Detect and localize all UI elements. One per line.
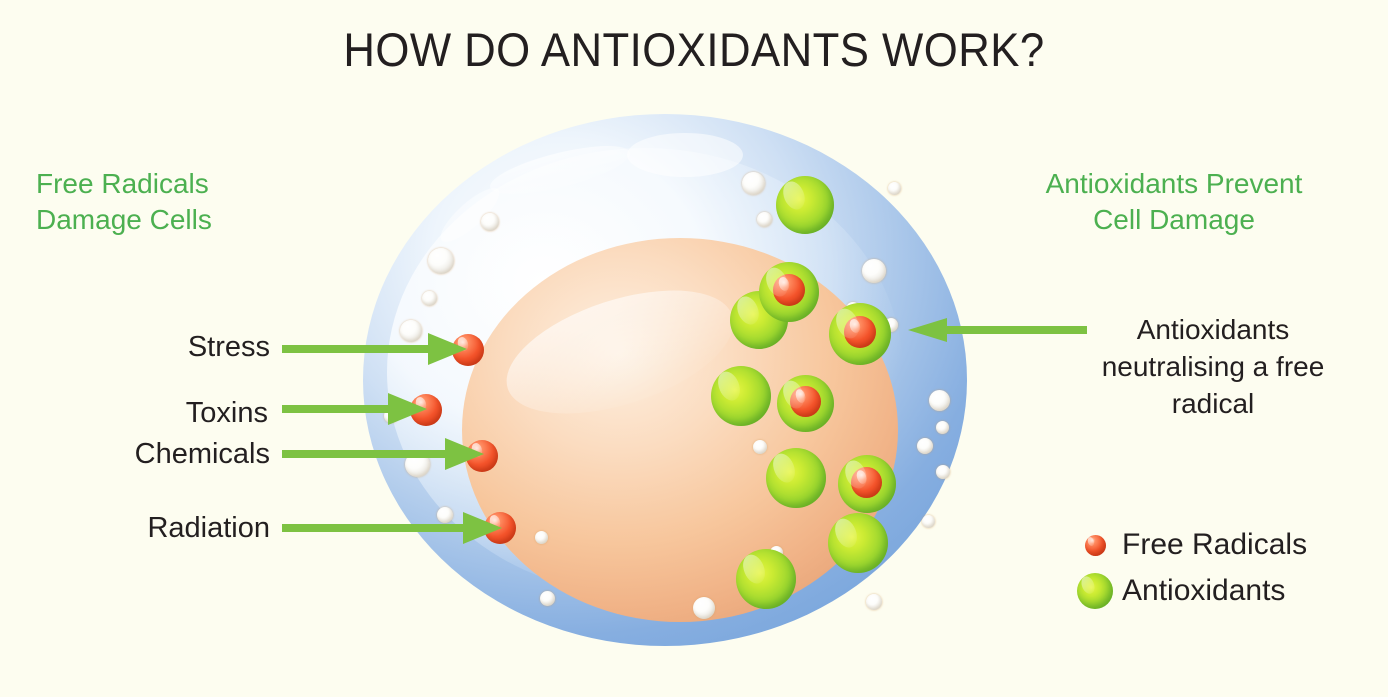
free-radical-icon [1085,535,1106,556]
legend-swatch-wrap [1072,535,1118,556]
annotation-antioxidant-neutralising: Antioxidants neutralising a free radical [1048,311,1378,422]
legend-label-antioxidants: Antioxidants [1122,574,1285,608]
antioxidant-icon [1077,573,1113,609]
arrow-chemicals [282,438,484,470]
arrow-stress [282,333,467,365]
legend-item-free-radicals: Free Radicals [1072,522,1372,568]
legend-item-antioxidants: Antioxidants [1072,568,1372,614]
infographic-canvas: HOW DO ANTIOXIDANTS WORK? [0,0,1388,697]
annotation-line1: Antioxidants [1048,311,1378,348]
legend-label-free-radicals: Free Radicals [1122,528,1307,562]
annotation-line2: neutralising a free [1048,348,1378,385]
annotation-line3: radical [1048,385,1378,422]
legend: Free Radicals Antioxidants [1072,522,1372,614]
arrow-radiation [282,512,502,544]
legend-swatch-wrap [1072,573,1118,609]
arrow-toxins [282,393,427,425]
